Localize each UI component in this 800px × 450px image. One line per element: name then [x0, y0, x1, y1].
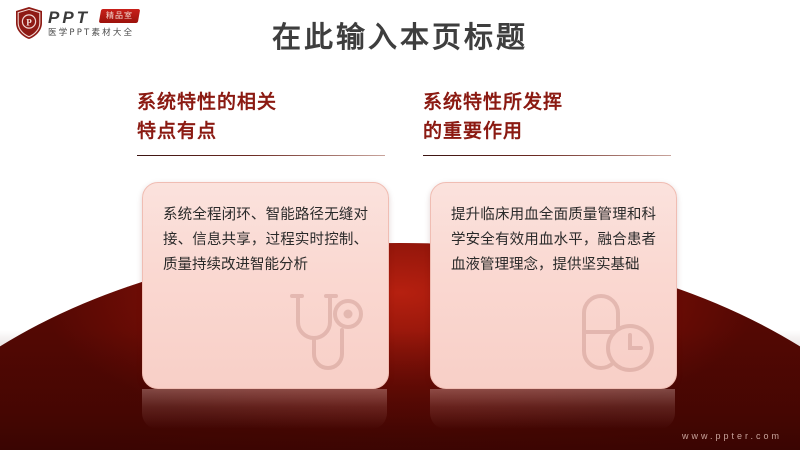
column-left-divider [137, 155, 385, 156]
column-right-heading: 系统特性所发挥 的重要作用 [423, 88, 713, 146]
background-red-arc [0, 0, 800, 450]
stethoscope-icon [284, 290, 372, 382]
content-card-left-reflection [142, 389, 387, 429]
footer-url: www.ppter.com [682, 431, 782, 441]
column-right: 系统特性所发挥 的重要作用 [423, 88, 713, 156]
content-card-right-text: 提升临床用血全面质量管理和科学安全有效用血水平，融合患者血液管理理念，提供坚实基… [431, 183, 676, 278]
column-left-heading: 系统特性的相关 特点有点 [137, 88, 427, 146]
column-right-divider [423, 155, 671, 156]
content-card-left[interactable]: 系统全程闭环、智能路径无缝对接、信息共享，过程实时控制、质量持续改进智能分析 [142, 182, 389, 389]
column-left: 系统特性的相关 特点有点 [137, 88, 427, 156]
content-card-right[interactable]: 提升临床用血全面质量管理和科学安全有效用血水平，融合患者血液管理理念，提供坚实基… [430, 182, 677, 389]
content-card-right-reflection [430, 389, 675, 429]
slide: P PPT 精品室 医学PPT素材大全 在此输入本页标题 系统特性的相关 特点有… [0, 0, 800, 450]
pill-clock-icon [572, 290, 660, 382]
page-title: 在此输入本页标题 [0, 14, 800, 56]
arc-bottom-shade [0, 330, 800, 450]
content-card-left-text: 系统全程闭环、智能路径无缝对接、信息共享，过程实时控制、质量持续改进智能分析 [143, 183, 388, 278]
